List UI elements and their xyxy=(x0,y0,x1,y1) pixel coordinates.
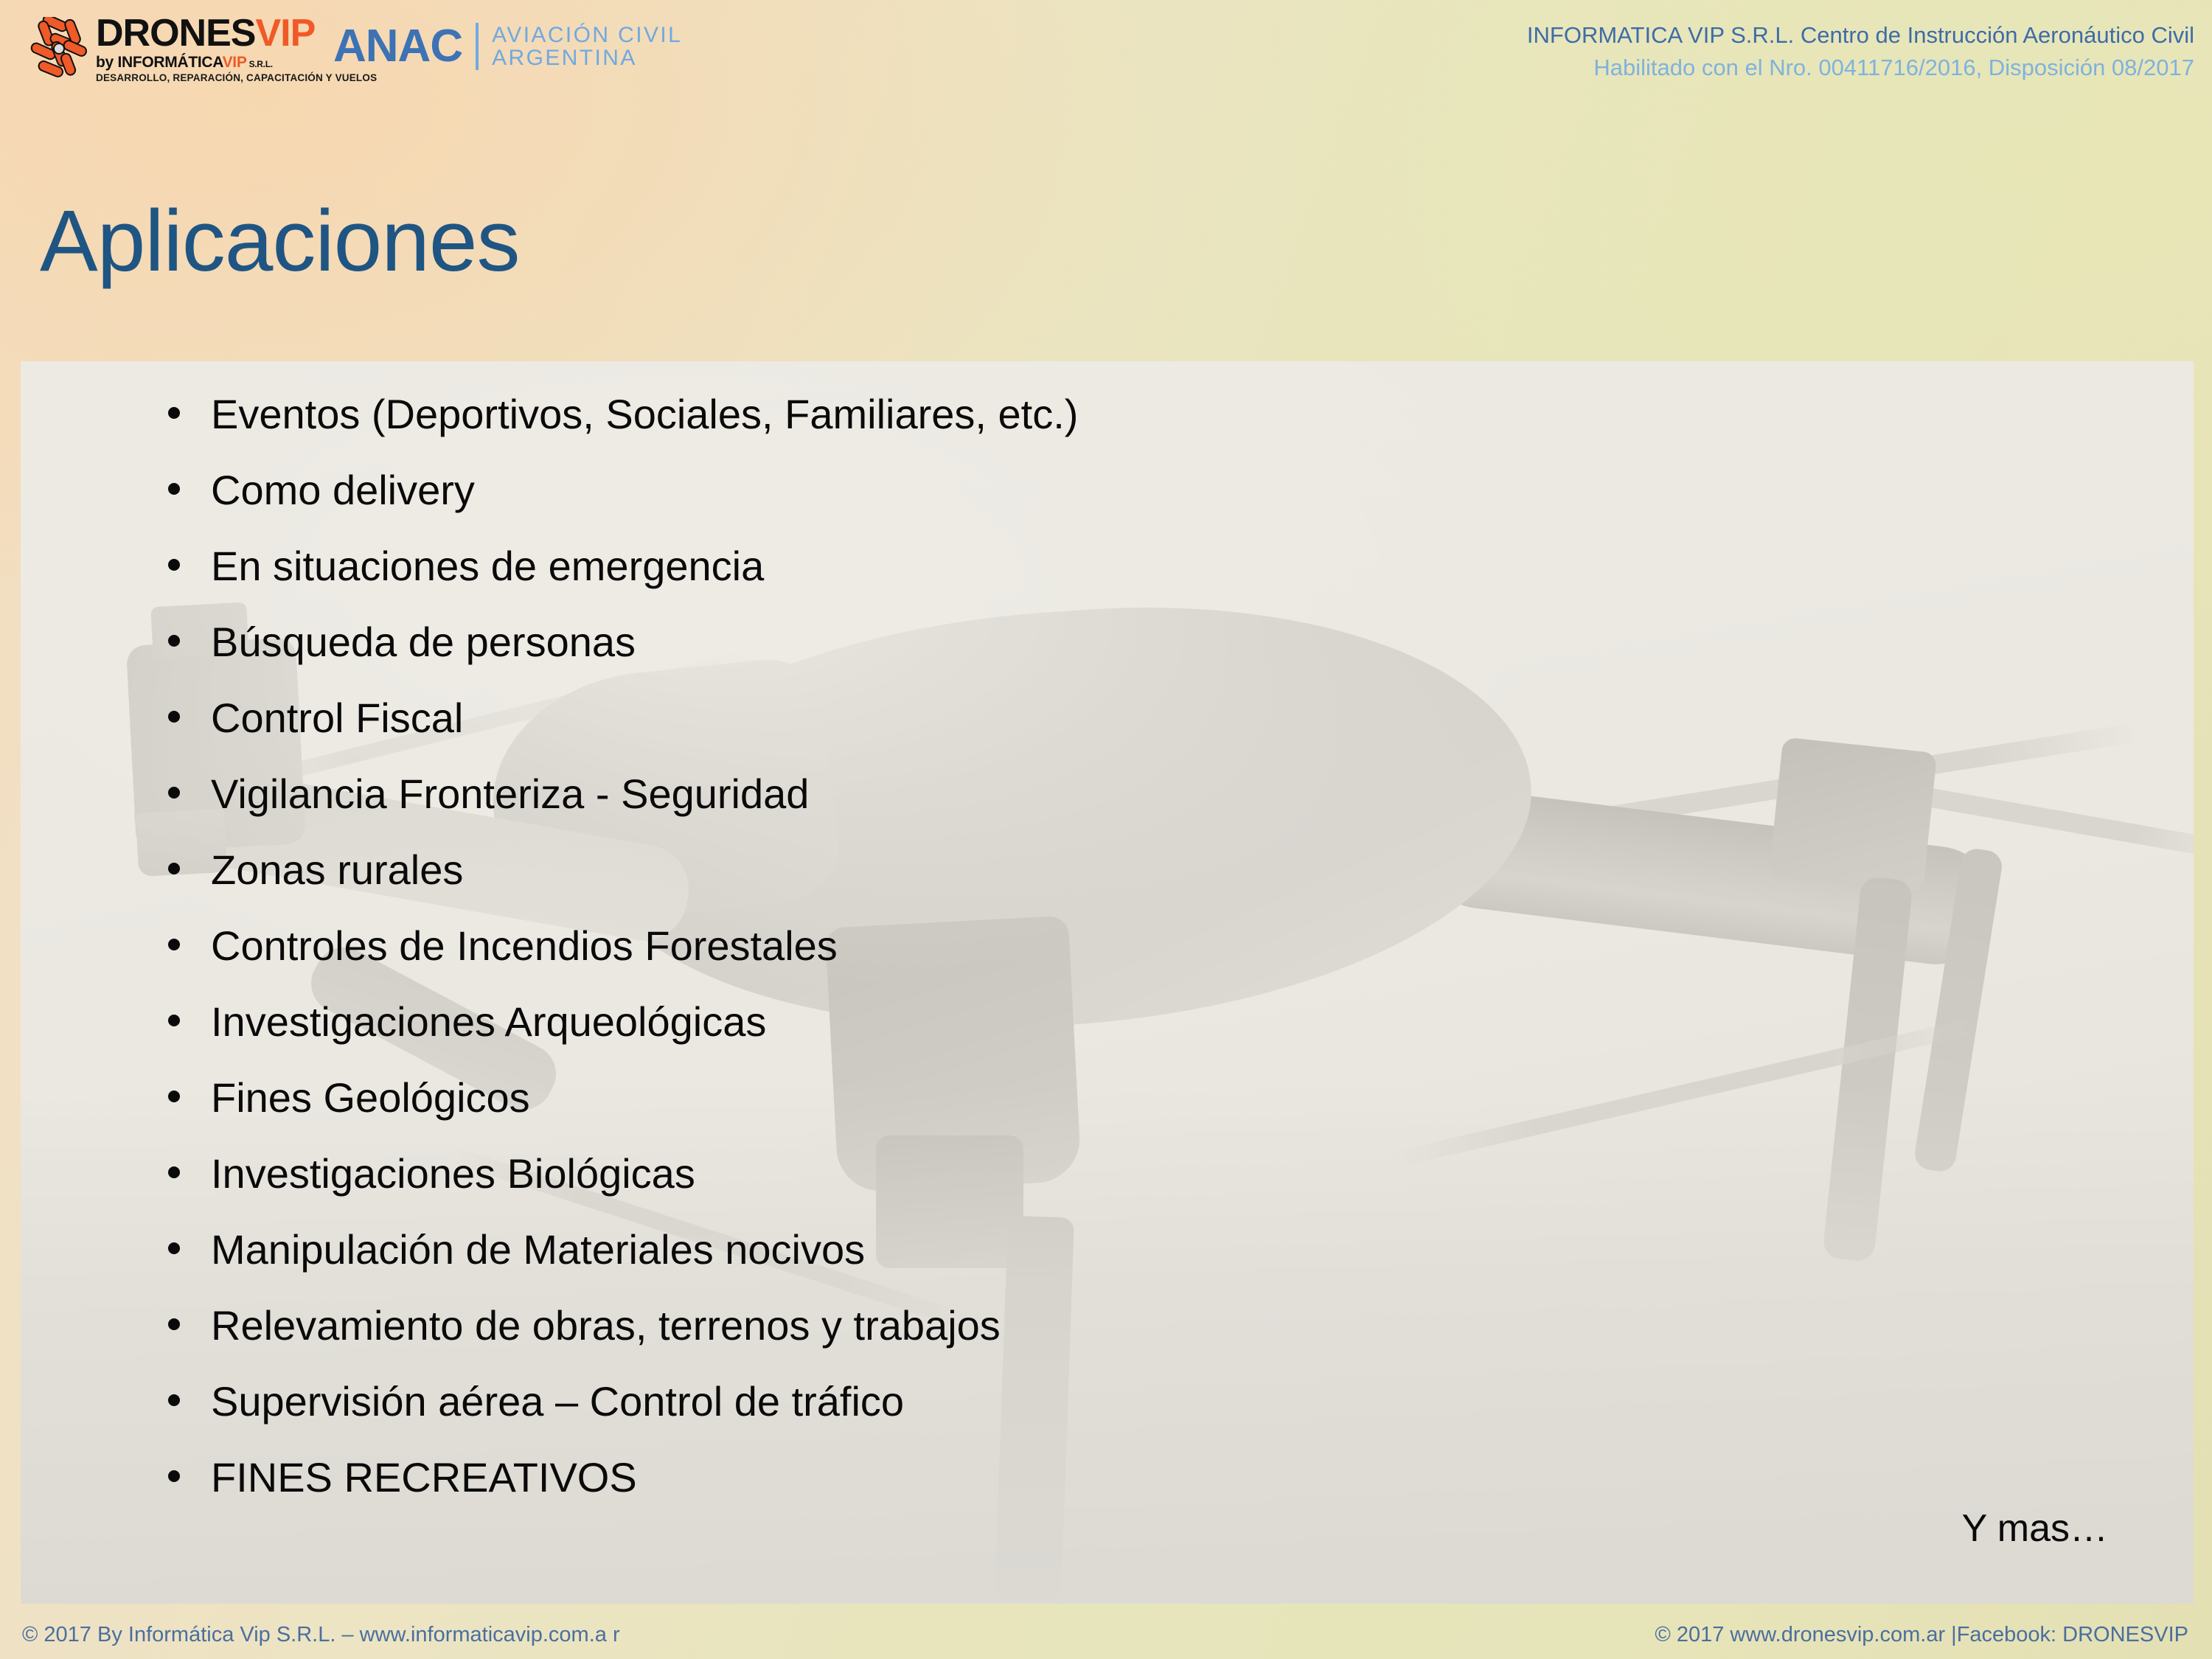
list-item: Vigilancia Fronteriza - Seguridad xyxy=(145,756,2062,832)
list-item-label: Fines Geológicos xyxy=(211,1074,530,1121)
dronesvip-tagline: DESARROLLO, REPARACIÓN, CAPACITACIÓN Y V… xyxy=(96,73,377,83)
bullet-dot-icon xyxy=(168,1166,180,1178)
list-item: Investigaciones Biológicas xyxy=(145,1135,2062,1211)
bullet-dot-icon xyxy=(168,939,180,950)
footer-copyright-dronesvip: © 2017 www.dronesvip.com.ar |Facebook: D… xyxy=(1655,1623,2188,1647)
dronesvip-wordmark-accent: VIP xyxy=(255,12,315,55)
bullet-dot-icon xyxy=(168,1470,180,1482)
list-item-label: En situaciones de emergencia xyxy=(211,543,764,589)
list-item: Zonas rurales xyxy=(145,832,2062,908)
bullet-dot-icon xyxy=(168,483,180,495)
list-item-label: FINES RECREATIVOS xyxy=(211,1454,637,1500)
slide-header: DRONESVIP by INFORMÁTICAVIP S.R.L. DESAR… xyxy=(0,0,2212,184)
anac-subtitle-line1: AVIACIÓN CIVIL xyxy=(492,24,682,46)
presentation-slide: DRONESVIP by INFORMÁTICAVIP S.R.L. DESAR… xyxy=(0,0,2212,1659)
list-item-label: Vigilancia Fronteriza - Seguridad xyxy=(211,771,809,817)
list-item: Manipulación de Materiales nocivos xyxy=(145,1211,2062,1287)
anac-divider xyxy=(476,23,479,70)
list-item-label: Investigaciones Arqueológicas xyxy=(211,998,766,1045)
footer-copyright-informaticavip: © 2017 By Informática Vip S.R.L. – www.i… xyxy=(22,1623,620,1647)
list-item-label: Como delivery xyxy=(211,467,475,513)
bullet-dot-icon xyxy=(168,711,180,723)
byline-suffix: S.R.L. xyxy=(247,59,273,69)
list-item-label: Zonas rurales xyxy=(211,846,463,893)
slide-footer: © 2017 By Informática Vip S.R.L. – www.i… xyxy=(0,1601,2212,1659)
byline-dark: INFORMÁTICA xyxy=(117,54,222,71)
drone-propeller-logo-icon xyxy=(28,17,90,80)
list-item-label: Investigaciones Biológicas xyxy=(211,1150,695,1197)
list-item-label: Manipulación de Materiales nocivos xyxy=(211,1226,865,1273)
list-item: Fines Geológicos xyxy=(145,1060,2062,1135)
bullet-dot-icon xyxy=(168,1091,180,1102)
dronesvip-logo: DRONESVIP by INFORMÁTICAVIP S.R.L. DESAR… xyxy=(28,13,323,84)
bullet-dot-icon xyxy=(168,1318,180,1330)
list-item-label: Búsqueda de personas xyxy=(211,619,636,665)
list-item: Control Fiscal xyxy=(145,680,2062,756)
institution-info: INFORMATICA VIP S.R.L. Centro de Instruc… xyxy=(1527,19,2194,84)
list-item-label: Eventos (Deportivos, Sociales, Familiare… xyxy=(211,391,1078,437)
anac-logo: ANAC AVIACIÓN CIVIL ARGENTINA xyxy=(333,21,682,72)
bullet-dot-icon xyxy=(168,1242,180,1254)
list-item: Relevamiento de obras, terrenos y trabaj… xyxy=(145,1287,2062,1363)
bullet-dot-icon xyxy=(168,635,180,647)
list-item-label: Controles de Incendios Forestales xyxy=(211,922,838,969)
list-item: Supervisión aérea – Control de tráfico xyxy=(145,1363,2062,1439)
anac-subtitle-line2: ARGENTINA xyxy=(492,46,682,69)
list-item: Eventos (Deportivos, Sociales, Familiare… xyxy=(145,376,2062,452)
list-item: Investigaciones Arqueológicas xyxy=(145,984,2062,1060)
list-item: Como delivery xyxy=(145,452,2062,528)
list-item: Búsqueda de personas xyxy=(145,604,2062,680)
byline-prefix: by xyxy=(96,54,117,71)
dronesvip-wordmark-dark: DRONES xyxy=(96,12,255,55)
anac-subtitle: AVIACIÓN CIVIL ARGENTINA xyxy=(492,24,682,69)
byline-accent: VIP xyxy=(223,54,247,71)
page-title: Aplicaciones xyxy=(40,198,519,285)
bullet-dot-icon xyxy=(168,407,180,419)
list-item: Controles de Incendios Forestales xyxy=(145,908,2062,984)
closing-note: Y mas… xyxy=(1962,1506,2108,1551)
bullet-dot-icon xyxy=(168,863,180,874)
list-item-label: Relevamiento de obras, terrenos y trabaj… xyxy=(211,1302,1001,1349)
list-item-label: Control Fiscal xyxy=(211,695,463,741)
list-item: FINES RECREATIVOS xyxy=(145,1439,2062,1515)
applications-list: Eventos (Deportivos, Sociales, Familiare… xyxy=(145,376,2062,1515)
bullet-dot-icon xyxy=(168,787,180,799)
institution-license: Habilitado con el Nro. 00411716/2016, Di… xyxy=(1527,52,2194,84)
list-item-label: Supervisión aérea – Control de tráfico xyxy=(211,1378,904,1425)
bullet-dot-icon xyxy=(168,559,180,571)
bullet-dot-icon xyxy=(168,1394,180,1406)
content-panel: Eventos (Deportivos, Sociales, Familiare… xyxy=(21,361,2194,1604)
bullet-dot-icon xyxy=(168,1015,180,1026)
list-item: En situaciones de emergencia xyxy=(145,528,2062,604)
institution-name: INFORMATICA VIP S.R.L. Centro de Instruc… xyxy=(1527,19,2194,52)
anac-acronym: ANAC xyxy=(333,24,462,69)
